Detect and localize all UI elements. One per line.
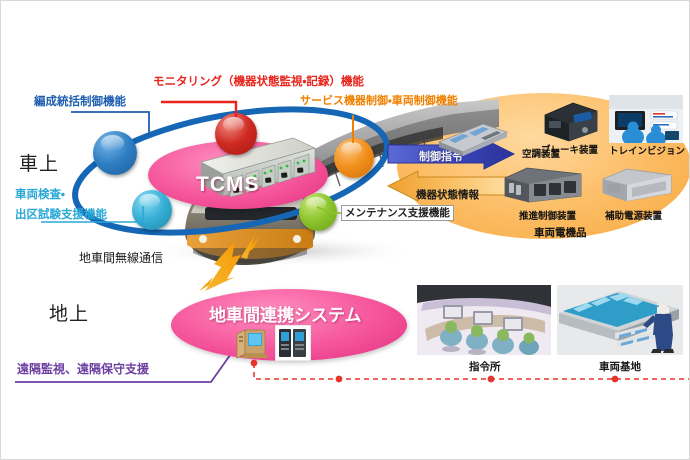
diagram-canvas: TCMS 車上 地上 編成統括制御機能 モニタリング（機器状態監視・記録）機能 …: [0, 0, 690, 460]
wireless-lightning-icon: [197, 233, 283, 295]
photo-auxiliary-power-supply: [601, 165, 673, 205]
label-remote-support: 遠隔監視、遠隔保守支援: [17, 363, 149, 377]
label-inspection-departure-test-line2: 出区試験支援機能: [15, 209, 107, 222]
network-node-command-center: [488, 376, 495, 383]
label-status-arrow: 機器状態情報: [416, 187, 479, 202]
node-inspection-departure-test[interactable]: [132, 190, 172, 230]
ground-system-label: 地車間連携システム: [209, 301, 362, 326]
label-service-vehicle-control: サービス機器制御・車両制御機能: [300, 95, 458, 108]
node-monitoring[interactable]: [215, 113, 257, 155]
node-train-integrated-control[interactable]: [93, 131, 137, 175]
label-inspection-departure-test-line1: 車両検査・: [15, 189, 65, 202]
tcms-label: TCMS: [196, 173, 260, 197]
caption-brake-device: ブレーキ装置: [541, 142, 598, 156]
label-monitoring: モニタリング（機器状態監視・記録）機能: [153, 76, 364, 89]
photo-command-center: [417, 285, 551, 355]
caption-vehicle-equipment-group: 車両電機品: [534, 225, 587, 240]
network-node-ground-system: [251, 360, 258, 367]
section-title-ground: 地上: [49, 299, 89, 326]
photo-train-vision: [609, 95, 683, 143]
photo-depot: [557, 285, 683, 355]
photo-air-conditioner: [435, 120, 511, 158]
caption-train-vision: トレインビジョン: [609, 143, 685, 157]
caption-propulsion-control: 推進制御装置: [519, 208, 576, 222]
caption-auxiliary-power-supply: 補助電源装置: [605, 208, 662, 222]
photo-propulsion-control: [503, 164, 583, 206]
section-title-onboard: 車上: [19, 149, 59, 176]
label-train-integrated-control: 編成統括制御機能: [34, 96, 126, 109]
node-maintenance-support[interactable]: [299, 193, 337, 231]
label-wireless-communication: 地車間無線通信: [79, 252, 163, 266]
network-node-depot: [612, 376, 619, 383]
node-service-vehicle-control[interactable]: [334, 138, 374, 178]
photo-brake-device: [541, 99, 601, 143]
